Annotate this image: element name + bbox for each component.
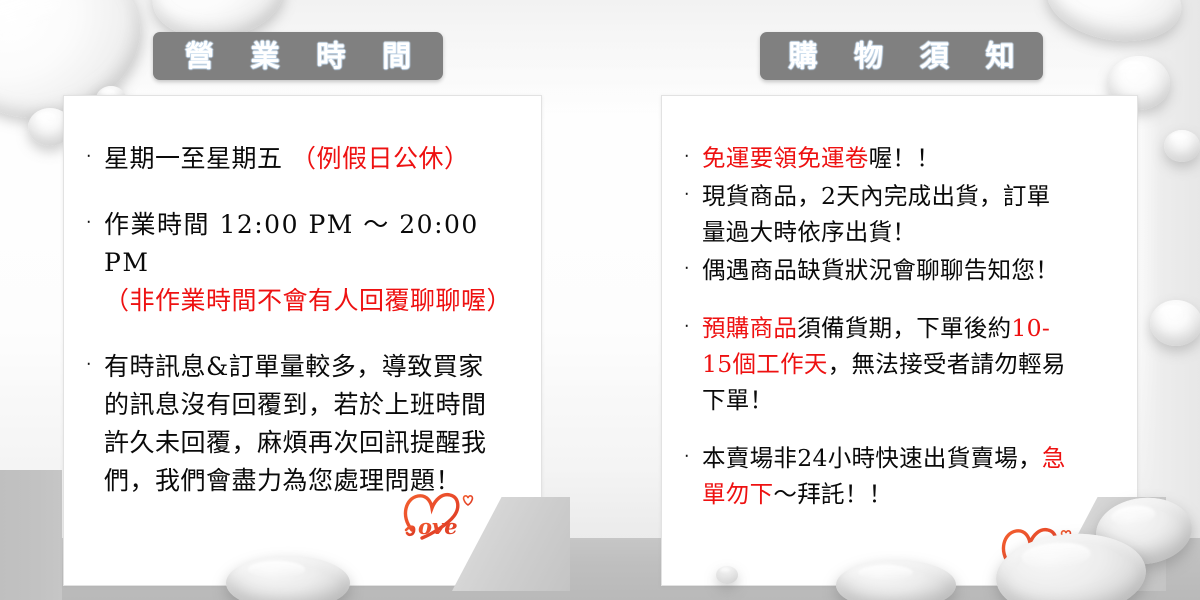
text-run: ，無法接受者請勿輕易 — [828, 350, 1066, 378]
text-run: 本賣場非24小時快速出貨賣場， — [702, 444, 1042, 472]
text-run-red: 免運要領免運卷 — [702, 144, 869, 172]
section-header-shopping-notice-label: 購 物 須 知 — [775, 42, 1028, 71]
list-item: ‧ 有時訊息&訂單量較多，導致買家 的訊息沒有回覆到，若於上班時間 許久未回覆，… — [86, 348, 523, 500]
text-run-hours: 作業時間 12:00 PM ～ 20:00 PM — [104, 210, 479, 277]
list-item: ‧ 免運要領免運卷喔！！ — [684, 140, 1119, 176]
love-signature-icon-left: ove — [398, 486, 490, 542]
list-item-text: 偶遇商品缺貨狀況會聊聊告知您！ — [702, 252, 1119, 288]
bullet-icon: ‧ — [86, 140, 104, 166]
text-run: 的訊息沒有回覆到，若於上班時間 — [104, 390, 487, 419]
bullet-icon: ‧ — [86, 348, 104, 374]
text-run: 有時訊息&訂單量較多，導致買家 — [104, 352, 484, 381]
text-run-red: 預購商品 — [702, 314, 797, 342]
text-run-red: 10- — [1011, 314, 1050, 342]
bullet-icon: ‧ — [684, 140, 702, 166]
section-header-business-hours: 營 業 時 間 — [153, 32, 443, 80]
text-run: ～拜託！！ — [773, 480, 892, 508]
list-item: ‧ 作業時間 12:00 PM ～ 20:00 PM （非作業時間不會有人回覆聊… — [86, 206, 523, 320]
text-run: 須備貨期，下單後約 — [797, 314, 1011, 342]
text-run: 偶遇商品缺貨狀況會聊聊告知您！ — [702, 256, 1059, 284]
list-item: ‧ 預購商品須備貨期，下單後約10- 15個工作天，無法接受者請勿輕易 下單！ — [684, 310, 1119, 418]
bullet-icon: ‧ — [684, 178, 702, 204]
bullet-icon: ‧ — [684, 252, 702, 278]
bullet-icon: ‧ — [86, 206, 104, 232]
bullet-icon: ‧ — [684, 310, 702, 336]
list-item-text: 作業時間 12:00 PM ～ 20:00 PM （非作業時間不會有人回覆聊聊喔… — [104, 206, 523, 320]
list-item-text: 有時訊息&訂單量較多，導致買家 的訊息沒有回覆到，若於上班時間 許久未回覆，麻煩… — [104, 348, 523, 500]
section-header-business-hours-label: 營 業 時 間 — [172, 42, 425, 71]
bubble-decoration-icon — [1164, 130, 1200, 162]
text-run-red: 15個工作天 — [702, 350, 828, 378]
announcement-banner: 營 業 時 間 購 物 須 知 ‧ 星期一至星期五 （例假日公休） ‧ 作業時間… — [0, 0, 1200, 600]
list-item: ‧ 星期一至星期五 （例假日公休） — [86, 140, 523, 178]
bubble-decoration-icon — [1150, 300, 1200, 346]
list-item-text: 現貨商品，2天內完成出貨，訂單 量過大時依序出貨！ — [702, 178, 1119, 250]
bullet-icon: ‧ — [684, 440, 702, 466]
text-run-red: （例假日公休） — [291, 144, 470, 173]
text-run: 現貨商品，2天內完成出貨，訂單 — [702, 182, 1050, 210]
text-run: 星期一至星期五 — [104, 144, 291, 173]
svg-text:ove: ove — [418, 514, 458, 539]
text-run-red: 急 — [1042, 444, 1066, 472]
section-header-shopping-notice: 購 物 須 知 — [760, 32, 1043, 80]
text-run: 許久未回覆，麻煩再次回訊提醒我 — [104, 428, 487, 457]
list-item-text: 免運要領免運卷喔！！ — [702, 140, 1119, 176]
text-run: 下單！ — [702, 386, 773, 414]
list-item-text: 星期一至星期五 （例假日公休） — [104, 140, 523, 178]
card-shopping-notice-content: ‧ 免運要領免運卷喔！！ ‧ 現貨商品，2天內完成出貨，訂單 量過大時依序出貨！… — [662, 96, 1137, 585]
text-run: 量過大時依序出貨！ — [702, 218, 916, 246]
list-item-text: 預購商品須備貨期，下單後約10- 15個工作天，無法接受者請勿輕易 下單！ — [702, 310, 1119, 418]
list-item: ‧ 偶遇商品缺貨狀況會聊聊告知您！ — [684, 252, 1119, 288]
text-run: 喔！！ — [869, 144, 940, 172]
list-item: ‧ 現貨商品，2天內完成出貨，訂單 量過大時依序出貨！ — [684, 178, 1119, 250]
text-run-red: （非作業時間不會有人回覆聊聊喔） — [104, 286, 512, 315]
text-run-red: 單勿下 — [702, 480, 773, 508]
list-item: ‧ 本賣場非24小時快速出貨賣場，急 單勿下～拜託！！ — [684, 440, 1119, 512]
card-shopping-notice: ‧ 免運要領免運卷喔！！ ‧ 現貨商品，2天內完成出貨，訂單 量過大時依序出貨！… — [661, 95, 1138, 586]
list-item-text: 本賣場非24小時快速出貨賣場，急 單勿下～拜託！！ — [702, 440, 1119, 512]
background-left-band — [0, 470, 62, 600]
bubble-decoration-icon — [716, 566, 738, 584]
